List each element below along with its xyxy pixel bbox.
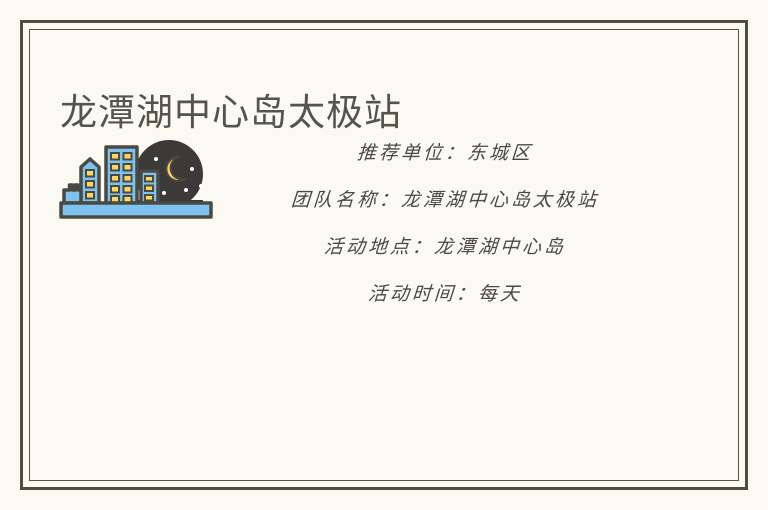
- info-row-activity-location: 活动地点：龙潭湖中心岛: [178, 224, 711, 271]
- info-value: 每天: [477, 283, 523, 305]
- info-label: 活动时间：: [367, 283, 479, 305]
- info-label: 推荐单位：: [356, 142, 468, 164]
- page-title: 龙潭湖中心岛太极站: [60, 91, 402, 135]
- info-row-activity-time: 活动时间：每天: [178, 271, 711, 318]
- card-content: 龙潭湖中心岛太极站: [30, 30, 738, 480]
- card-body: 推荐单位：东城区 团队名称：龙潭湖中心岛太极站 活动地点：龙潭湖中心岛 活动时间…: [30, 130, 738, 360]
- info-row-recommending-unit: 推荐单位：东城区: [178, 130, 711, 177]
- info-row-team-name: 团队名称：龙潭湖中心岛太极站: [178, 177, 711, 224]
- card-page: 龙潭湖中心岛太极站: [0, 0, 768, 510]
- info-value: 东城区: [466, 142, 534, 164]
- info-label: 活动地点：: [323, 236, 435, 258]
- info-label: 团队名称：: [290, 189, 402, 211]
- info-value: 龙潭湖中心岛: [433, 236, 567, 258]
- info-list: 推荐单位：东城区 团队名称：龙潭湖中心岛太极站 活动地点：龙潭湖中心岛 活动时间…: [180, 130, 710, 318]
- info-value: 龙潭湖中心岛太极站: [400, 189, 600, 211]
